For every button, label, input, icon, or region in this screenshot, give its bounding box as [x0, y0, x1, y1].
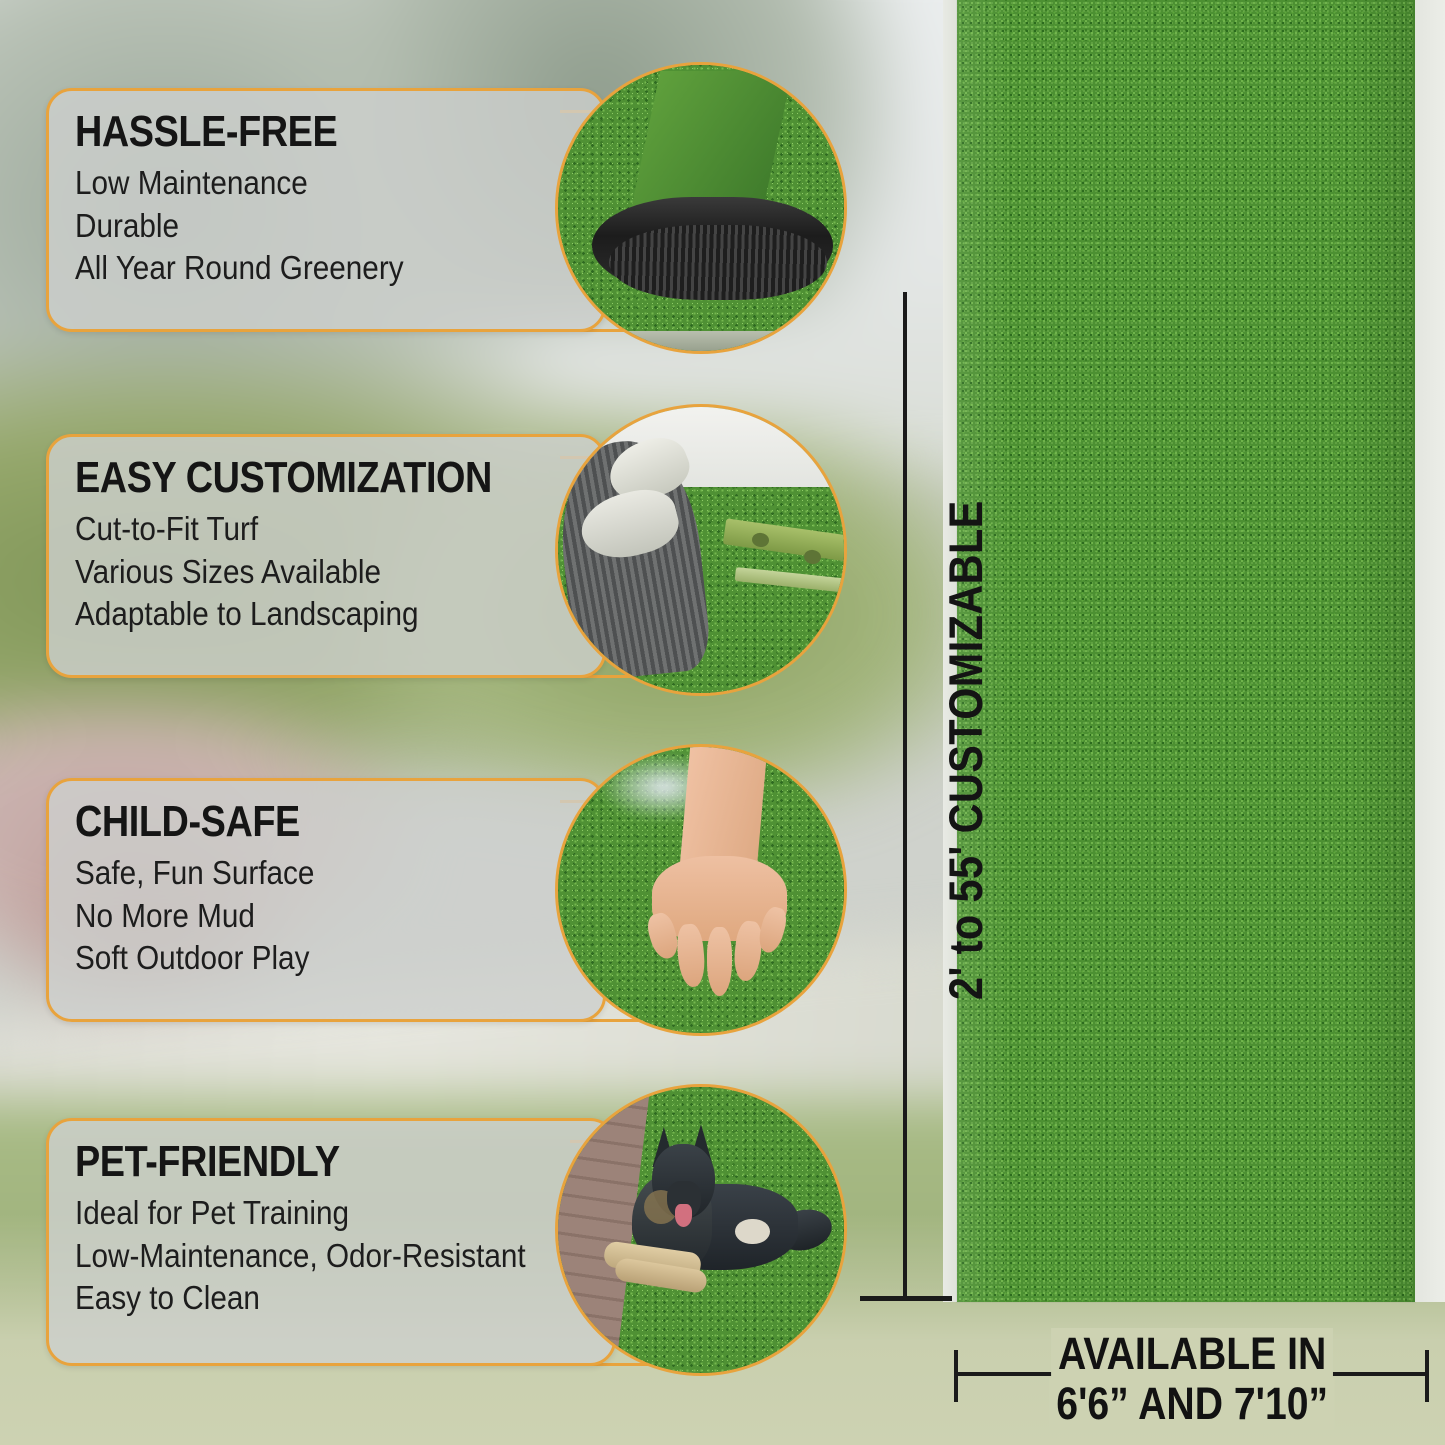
feature-bullet: Adaptable to Landscaping — [75, 593, 527, 636]
available-in-text: AVAILABLE IN — [1051, 1328, 1333, 1380]
vertical-dimension-label-text: 2' to 55' CUSTOMIZABLE — [938, 500, 993, 1000]
infographic-canvas: 2' to 55' CUSTOMIZABLE HASSLE-FREE Low M… — [0, 0, 1445, 1445]
vertical-dimension-label: 2' to 55' CUSTOMIZABLE — [938, 432, 993, 1000]
feature-bullet: No More Mud — [75, 895, 527, 938]
feature-bullet: Ideal for Pet Training — [75, 1192, 536, 1235]
bottom-dimension-caption: AVAILABLE IN 6'6” AND 7'10” — [940, 1312, 1445, 1440]
feature-card-child-safe: CHILD-SAFE Safe, Fun Surface No More Mud… — [46, 778, 606, 1022]
feature-bullet: Cut-to-Fit Turf — [75, 508, 527, 551]
feature-title: CHILD-SAFE — [75, 799, 507, 846]
feature-card-hassle-free: HASSLE-FREE Low Maintenance Durable All … — [46, 88, 606, 332]
rolled-turf-photo — [555, 62, 847, 354]
feature-card-pet-friendly: PET-FRIENDLY Ideal for Pet Training Low-… — [46, 1118, 616, 1366]
vertical-dimension-line — [903, 292, 907, 1300]
feature-bullet: Soft Outdoor Play — [75, 937, 527, 980]
feature-bullet: Low-Maintenance, Odor-Resistant — [75, 1235, 536, 1278]
turf-product-image — [957, 0, 1415, 1302]
dog-on-turf-photo — [555, 1084, 847, 1376]
feature-bullet: Various Sizes Available — [75, 551, 527, 594]
feature-title: HASSLE-FREE — [75, 109, 507, 156]
available-sizes-label: 6'6” AND 7'10” — [940, 1378, 1445, 1430]
turf-right-band — [1415, 0, 1445, 1302]
feature-bullet: Durable — [75, 205, 527, 248]
available-in-label: AVAILABLE IN — [940, 1328, 1445, 1380]
installing-turf-photo — [555, 404, 847, 696]
feature-bullet: Low Maintenance — [75, 162, 527, 205]
vertical-dimension-bottom-tick — [860, 1296, 952, 1301]
feature-bullet: All Year Round Greenery — [75, 247, 527, 290]
feature-bullet: Safe, Fun Surface — [75, 852, 527, 895]
child-hand-on-turf-photo — [555, 744, 847, 1036]
feature-title: PET-FRIENDLY — [75, 1139, 515, 1186]
feature-card-easy-customization: EASY CUSTOMIZATION Cut-to-Fit Turf Vario… — [46, 434, 606, 678]
available-sizes-text: 6'6” AND 7'10” — [1050, 1378, 1336, 1430]
feature-bullet: Easy to Clean — [75, 1277, 536, 1320]
feature-title: EASY CUSTOMIZATION — [75, 455, 507, 502]
